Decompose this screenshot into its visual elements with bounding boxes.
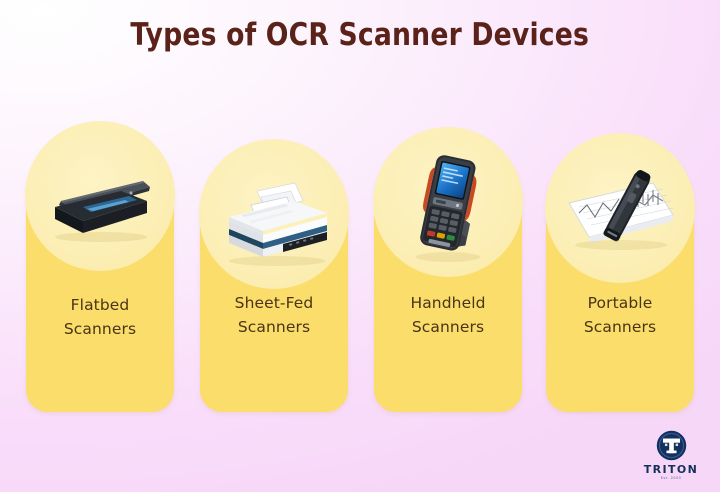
card-label-line2: Scanners — [546, 316, 694, 340]
card-label-line2: Scanners — [200, 316, 348, 340]
card-label-flatbed: Flatbed Scanners — [26, 294, 174, 341]
card-sheet-fed-scanners[interactable]: Sheet-Fed Scanners — [200, 140, 348, 412]
card-label-line1: Flatbed — [71, 296, 130, 314]
card-handheld-scanners[interactable]: Handheld Scanners — [374, 128, 522, 412]
card-icon-backdrop — [25, 121, 175, 271]
infographic-poster: Types of OCR Scanner Devices — [0, 0, 720, 492]
card-flatbed-scanners[interactable]: Flatbed Scanners — [26, 122, 174, 412]
logo-tagline: Est. 2000 — [640, 477, 702, 480]
card-label-line1: Portable — [588, 294, 653, 312]
card-label-handheld: Handheld Scanners — [374, 292, 522, 339]
brand-logo[interactable]: TRITON Est. 2000 — [640, 430, 702, 480]
card-label-line2: Scanners — [26, 318, 174, 342]
card-icon-backdrop — [199, 139, 349, 289]
card-icon-backdrop — [545, 133, 695, 283]
portable-wand-scanner-icon — [545, 133, 695, 283]
card-label-portable: Portable Scanners — [546, 292, 694, 339]
logo-wordmark: TRITON — [640, 464, 702, 475]
handheld-scanner-icon — [373, 127, 523, 277]
card-icon-backdrop — [373, 127, 523, 277]
sheet-fed-scanner-icon — [199, 139, 349, 289]
flatbed-scanner-icon — [25, 121, 175, 271]
card-label-line2: Scanners — [374, 316, 522, 340]
card-label-line1: Sheet-Fed — [235, 294, 314, 312]
card-label-line1: Handheld — [410, 294, 485, 312]
triton-t-circle-icon — [656, 430, 687, 461]
scanner-type-card-row: Flatbed Scanners — [0, 0, 720, 492]
card-portable-scanners[interactable]: Portable Scanners — [546, 134, 694, 412]
card-label-sheet-fed: Sheet-Fed Scanners — [200, 292, 348, 339]
